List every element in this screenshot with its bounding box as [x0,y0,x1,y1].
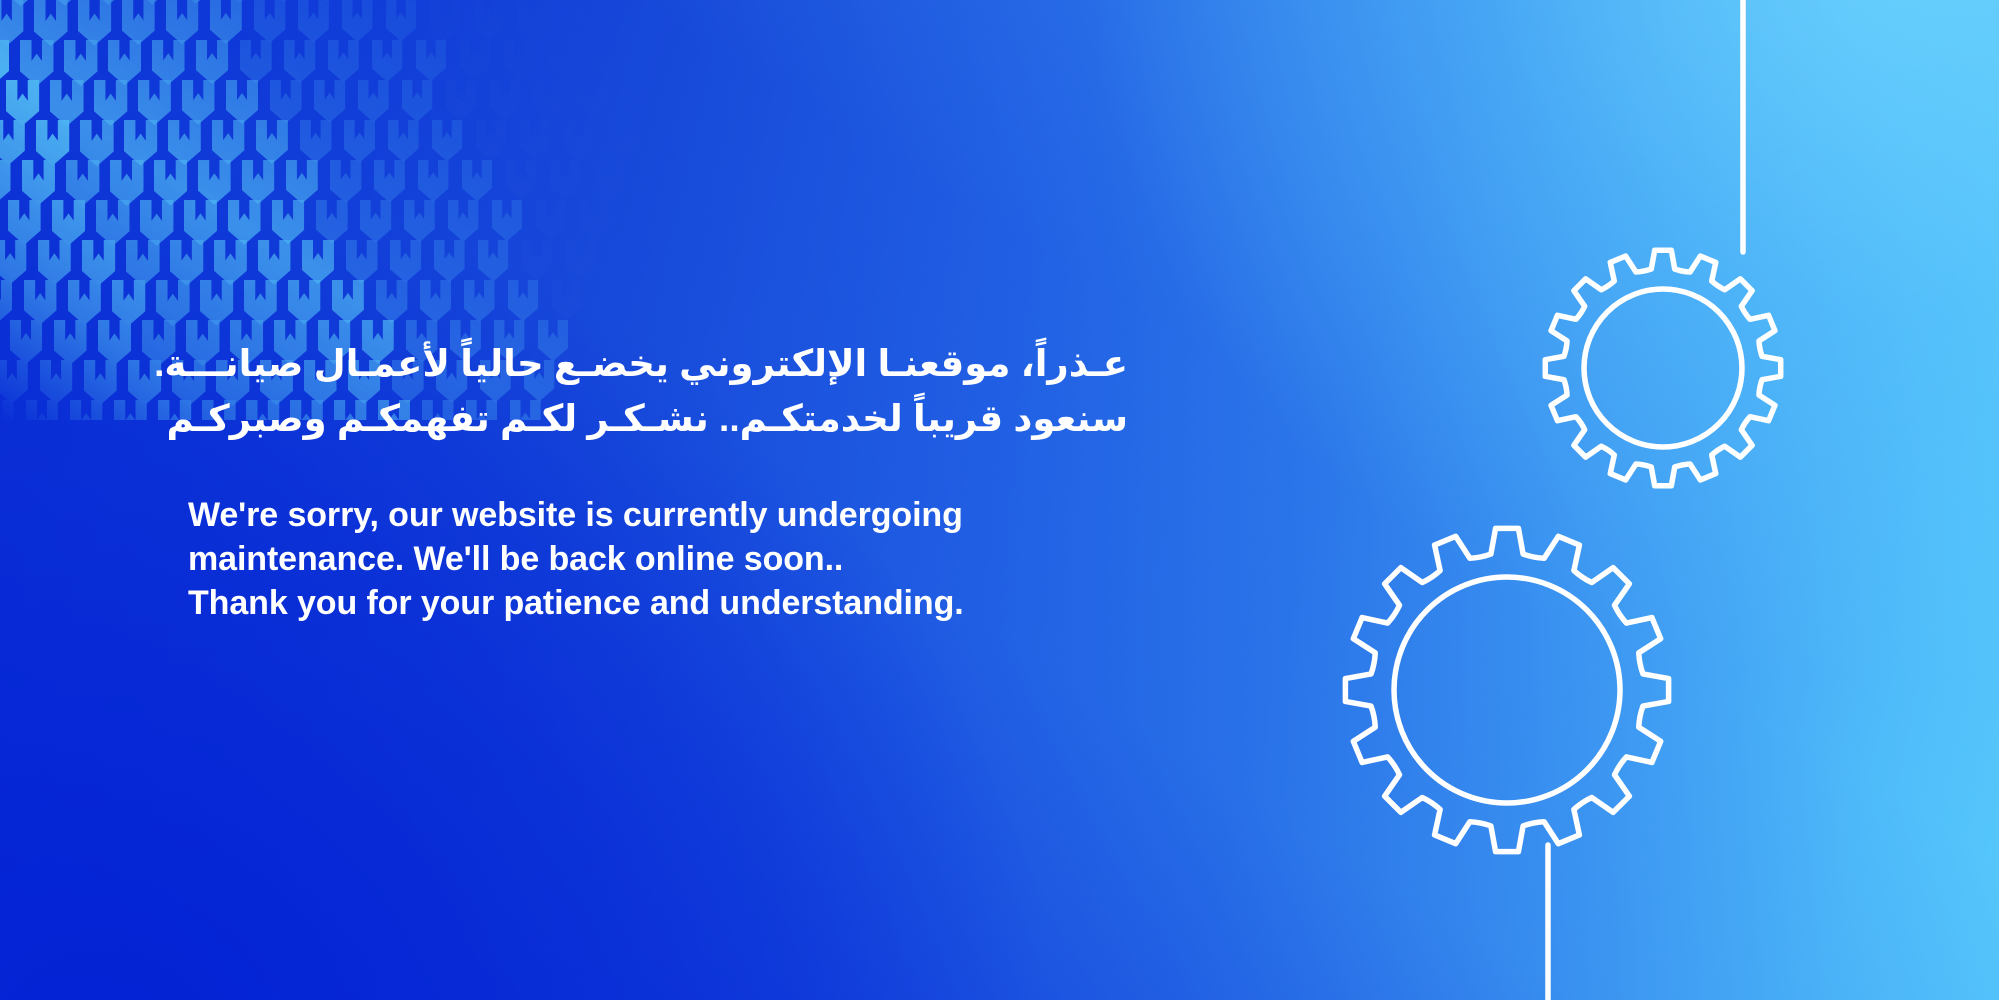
english-line-3: Thank you for your patience and understa… [188,581,1148,625]
arabic-message: عـذراً، موقعنـا الإلكتروني يخضـع حالياً … [188,338,1128,445]
english-message: We're sorry, our website is currently un… [188,493,1148,626]
arabic-line-2: سنعود قريباً لخدمتكـم.. نشـكـر لكـم تفهم… [188,393,1128,446]
background-light-corner-glow [1099,0,1999,670]
arabic-line-1: عـذراً، موقعنـا الإلكتروني يخضـع حالياً … [188,338,1128,391]
english-line-2: maintenance. We'll be back online soon.. [188,537,1148,581]
message-block: عـذراً، موقعنـا الإلكتروني يخضـع حالياً … [188,338,1148,626]
maintenance-page: عـذراً، موقعنـا الإلكتروني يخضـع حالياً … [0,0,1999,1000]
english-line-1: We're sorry, our website is currently un… [188,493,1148,537]
